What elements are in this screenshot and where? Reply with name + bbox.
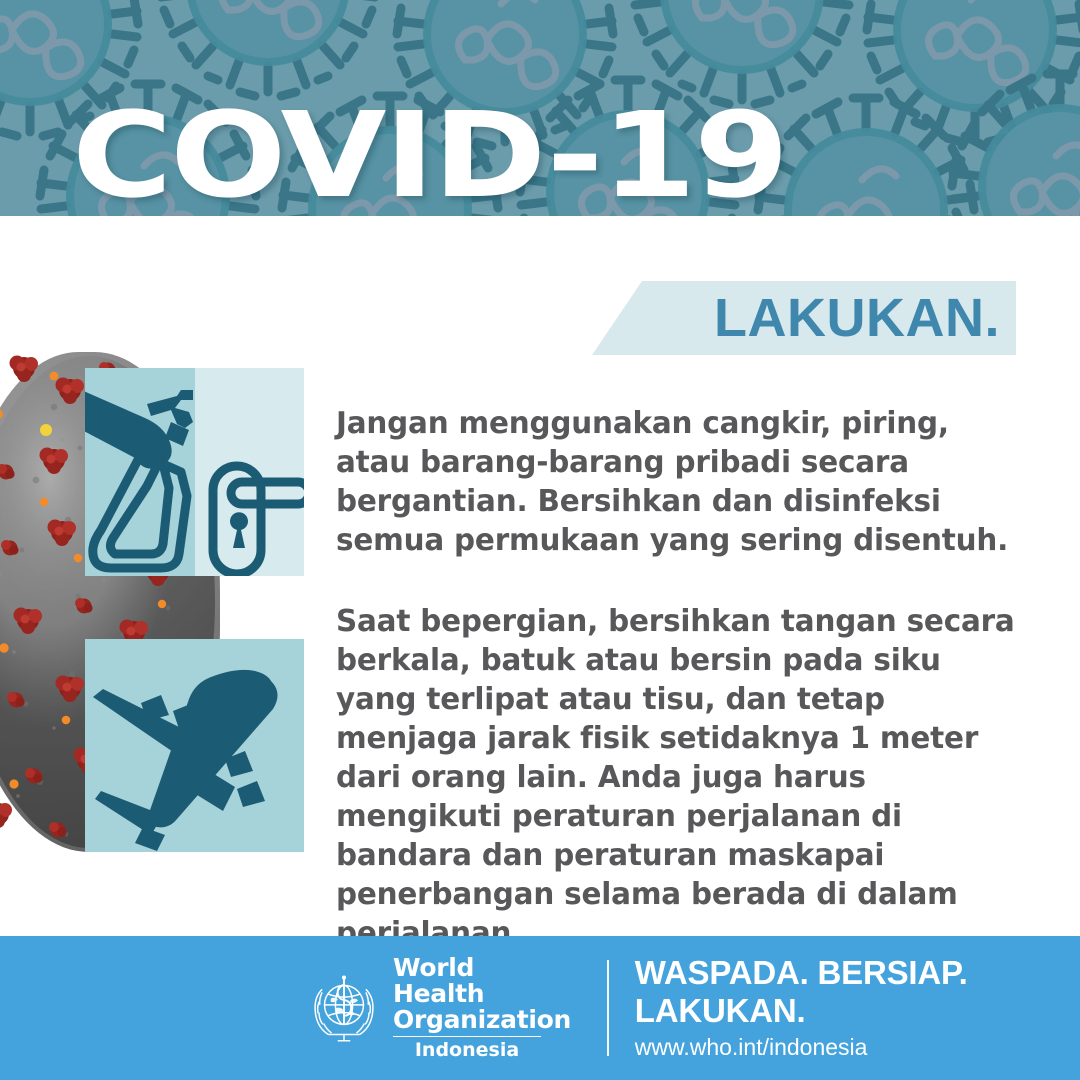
illustration-tile-travel [85,639,304,852]
footer-bar: World Health Organization Indonesia WASP… [0,936,1080,1080]
who-name-line1: World Health [393,955,571,1007]
page-title: COVID-19 [72,96,787,214]
who-name-line2: Organization [393,1007,571,1033]
who-logo: World Health Organization Indonesia [305,955,571,1062]
body-content: Jangan menggunakan cangkir, piring, atau… [336,404,1052,953]
spray-bottle-door-handle-icon [85,368,304,576]
who-emblem-icon [305,969,383,1047]
section-banner-lakukan: LAKUKAN. [592,281,1016,355]
header-banner: COVID-19 [0,0,1080,216]
paragraph-travel: Saat bepergian, bersihkan tangan secara … [336,602,1027,953]
airplane-icon [85,639,304,852]
paragraph-hygiene: Jangan menggunakan cangkir, piring, atau… [336,404,1027,560]
banner-label: LAKUKAN. [714,291,1016,345]
footer-divider [607,960,609,1056]
footer-url[interactable]: www.who.int/indonesia [635,1032,1080,1062]
illustration-tile-disinfect [85,368,304,576]
who-country-label: Indonesia [393,1040,541,1061]
who-logo-rule [393,1036,541,1038]
footer-tagline: WASPADA. BERSIAP. LAKUKAN. [635,954,1080,1030]
